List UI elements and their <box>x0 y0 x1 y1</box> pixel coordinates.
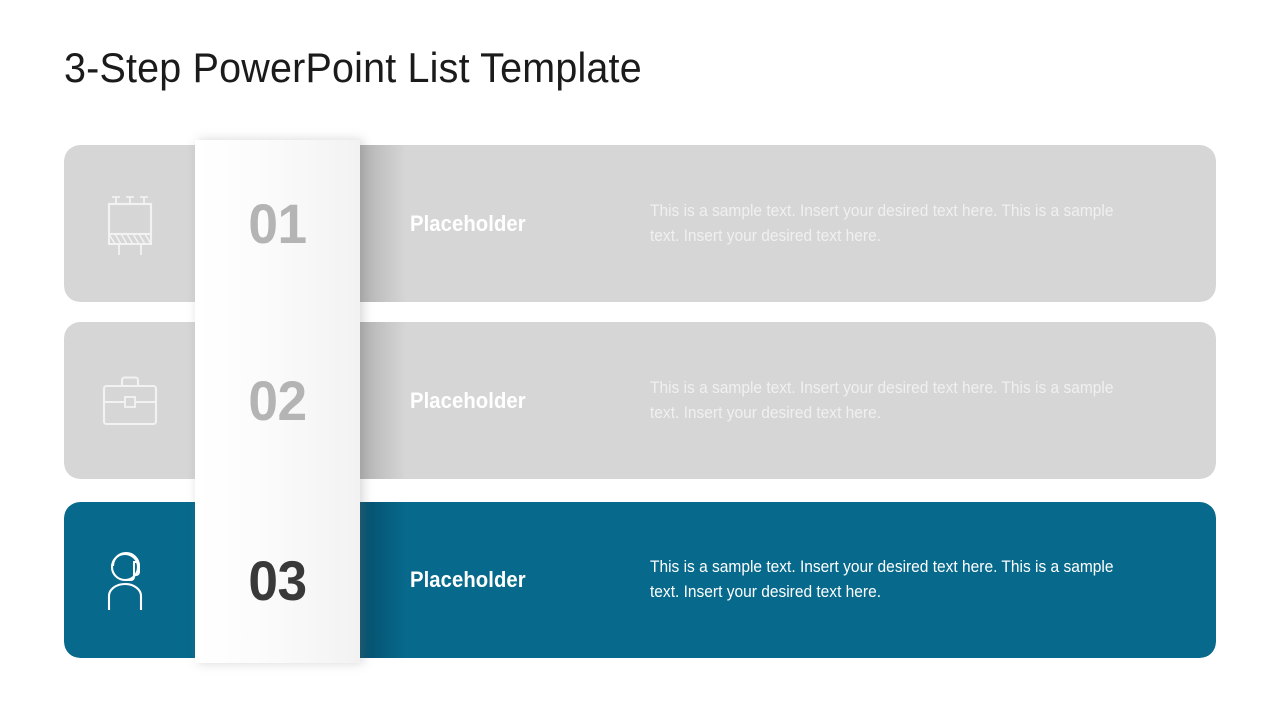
step-01-icon-cell <box>64 145 195 302</box>
step-number-01: 01 <box>199 145 356 302</box>
support-agent-icon <box>100 548 160 612</box>
step-03-icon-cell <box>64 502 195 658</box>
step-number-03: 03 <box>199 502 356 659</box>
step-number-band: 01 02 03 <box>195 140 360 663</box>
steps-list: Placeholder This is a sample text. Inser… <box>0 0 1280 720</box>
billboard-icon <box>99 192 161 256</box>
step-03-body: This is a sample text. Insert your desir… <box>650 502 1120 658</box>
step-01-body: This is a sample text. Insert your desir… <box>650 145 1120 302</box>
step-03-heading: Placeholder <box>410 502 622 658</box>
step-01-heading: Placeholder <box>410 145 622 302</box>
step-02-body: This is a sample text. Insert your desir… <box>650 322 1120 479</box>
step-number-02: 02 <box>199 322 356 479</box>
briefcase-icon <box>99 373 161 429</box>
step-02-icon-cell <box>64 322 195 479</box>
step-02-heading: Placeholder <box>410 322 622 479</box>
